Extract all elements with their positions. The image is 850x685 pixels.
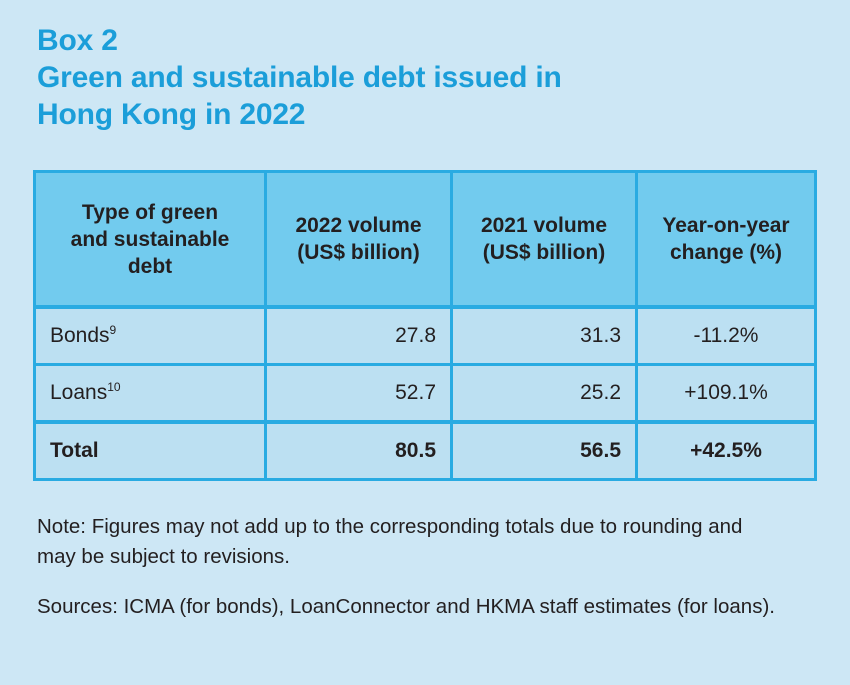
table-row: Loans10 52.7 25.2 +109.1% [35,365,816,423]
cell-loans-volume-2022: 52.7 [266,365,452,423]
footnote-marker-loans: 10 [107,380,120,394]
table-row-total: Total 80.5 56.5 +42.5% [35,422,816,480]
sources-text: Sources: ICMA (for bonds), LoanConnector… [37,592,782,622]
row-label-loans-text: Loans [50,381,107,404]
cell-total-volume-2021: 56.5 [452,422,637,480]
row-label-loans: Loans10 [35,365,266,423]
column-header-debt-type-line-3: debt [50,253,250,280]
cell-loans-volume-2021: 25.2 [452,365,637,423]
column-header-yoy-change-line-2: change (%) [652,239,800,266]
column-header-volume-2022-line-1: 2022 volume [281,212,436,239]
column-header-volume-2021-line-1: 2021 volume [467,212,621,239]
column-header-volume-2022: 2022 volume (US$ billion) [266,172,452,308]
box-figure-page: Box 2 Green and sustainable debt issued … [0,0,850,685]
table-header: Type of green and sustainable debt 2022 … [35,172,816,308]
cell-bonds-yoy-change: -11.2% [637,307,816,365]
debt-table-wrapper: Type of green and sustainable debt 2022 … [33,170,814,481]
footnote-marker-bonds: 9 [110,323,117,337]
column-header-debt-type-line-2: and sustainable [50,226,250,253]
column-header-yoy-change-line-1: Year-on-year [652,212,800,239]
box-title-line-2: Hong Kong in 2022 [37,96,777,133]
notes-block: Note: Figures may not add up to the corr… [37,512,797,622]
column-header-volume-2021-line-2: (US$ billion) [467,239,621,266]
cell-total-volume-2022: 80.5 [266,422,452,480]
column-header-volume-2021: 2021 volume (US$ billion) [452,172,637,308]
table-row: Bonds9 27.8 31.3 -11.2% [35,307,816,365]
row-label-bonds-text: Bonds [50,324,110,347]
column-header-volume-2022-line-2: (US$ billion) [281,239,436,266]
note-text: Note: Figures may not add up to the corr… [37,512,782,572]
cell-loans-yoy-change: +109.1% [637,365,816,423]
table-header-row: Type of green and sustainable debt 2022 … [35,172,816,308]
cell-bonds-volume-2022: 27.8 [266,307,452,365]
row-label-bonds: Bonds9 [35,307,266,365]
column-header-debt-type-line-1: Type of green [50,199,250,226]
box-title-block: Box 2 Green and sustainable debt issued … [37,22,777,133]
cell-bonds-volume-2021: 31.3 [452,307,637,365]
column-header-yoy-change: Year-on-year change (%) [637,172,816,308]
green-debt-table: Type of green and sustainable debt 2022 … [33,170,817,481]
box-title-line-1: Green and sustainable debt issued in [37,59,777,96]
row-label-total: Total [35,422,266,480]
cell-total-yoy-change: +42.5% [637,422,816,480]
table-body: Bonds9 27.8 31.3 -11.2% Loans10 52.7 25.… [35,307,816,480]
box-label: Box 2 [37,22,777,59]
column-header-debt-type: Type of green and sustainable debt [35,172,266,308]
